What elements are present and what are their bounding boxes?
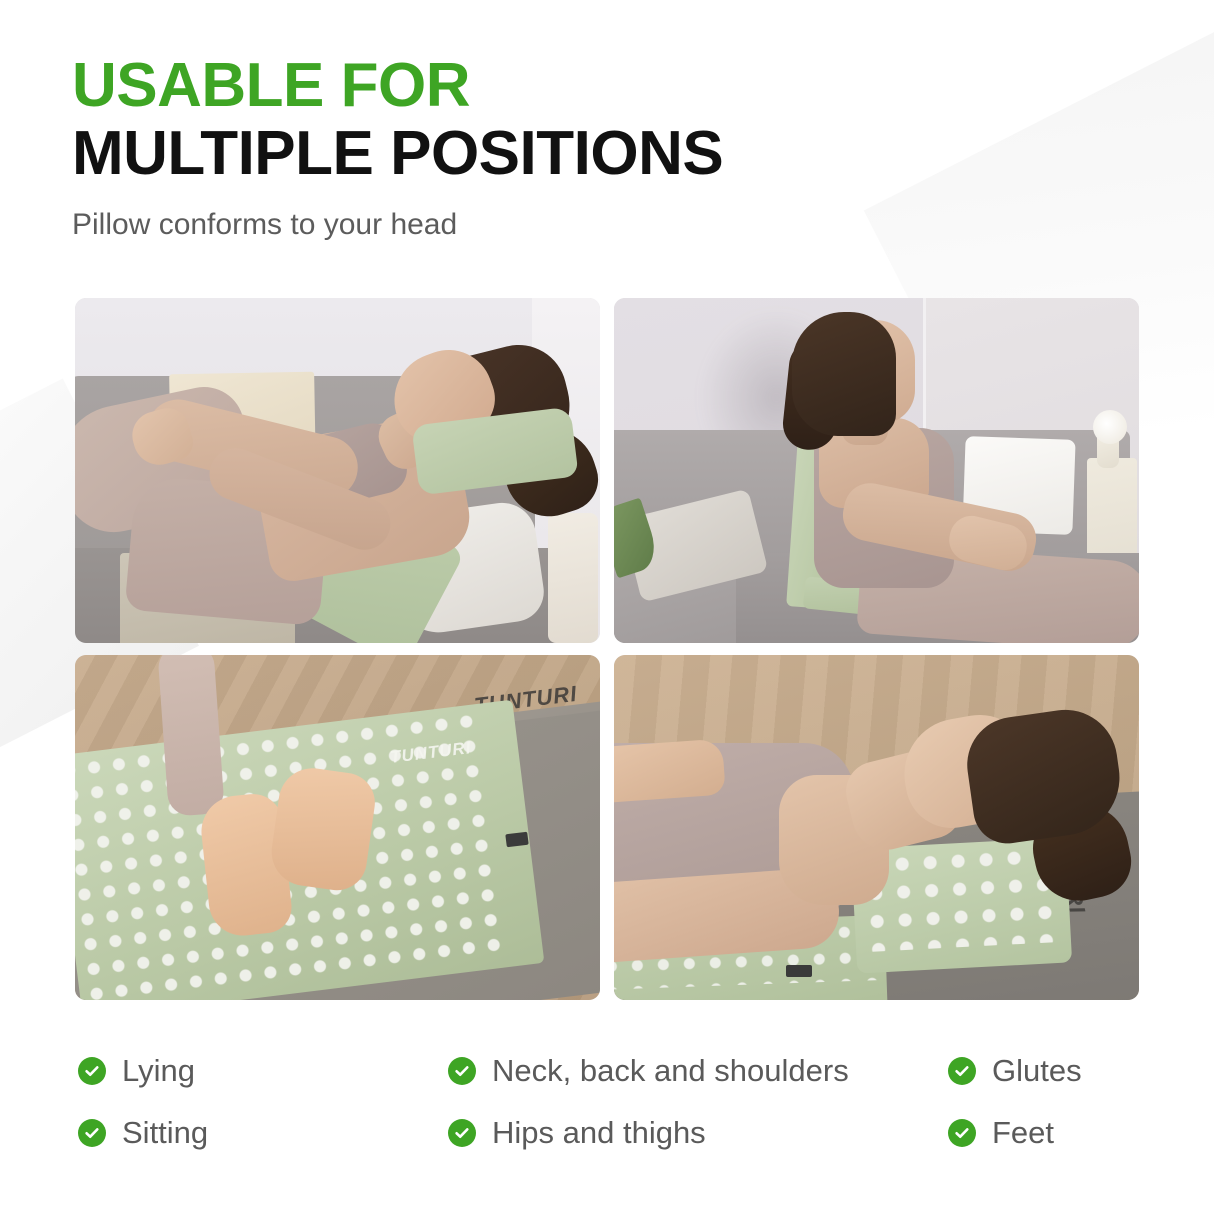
checklist-item-neck-back-shoulders: Neck, back and shoulders xyxy=(448,1048,948,1094)
mat-label-tag xyxy=(786,965,812,977)
photo-feet-on-mat: TUNTURI TUNTURI xyxy=(75,655,600,1000)
check-circle-icon xyxy=(448,1119,476,1147)
checklist-label: Neck, back and shoulders xyxy=(492,1054,849,1088)
check-circle-icon xyxy=(448,1057,476,1085)
checklist-item-glutes: Glutes xyxy=(948,1048,1148,1094)
mat-label-tag xyxy=(505,832,528,848)
photo-lying-on-mat: TUNTURI xyxy=(614,655,1139,1000)
orchid-flower xyxy=(1093,410,1127,444)
model-left-leg xyxy=(157,655,225,817)
check-circle-icon xyxy=(948,1119,976,1147)
checklist-item-feet: Feet xyxy=(948,1110,1148,1156)
checklist-label: Feet xyxy=(992,1116,1054,1150)
page-title-accent: USABLE FOR xyxy=(72,52,1142,120)
model-hair xyxy=(792,312,896,436)
page-title-main: MULTIPLE POSITIONS xyxy=(72,120,1142,188)
header: USABLE FOR MULTIPLE POSITIONS Pillow con… xyxy=(72,52,1142,244)
page-subtitle: Pillow conforms to your head xyxy=(72,206,1142,244)
checklist-label: Sitting xyxy=(122,1116,208,1150)
checklist-label: Lying xyxy=(122,1054,195,1088)
photo-sitting-on-couch xyxy=(614,298,1139,643)
model-midriff xyxy=(614,739,726,804)
model-right-foot xyxy=(267,764,378,894)
checklist-item-sitting: Sitting xyxy=(78,1110,448,1156)
checklist-item-hips-and-thighs: Hips and thighs xyxy=(448,1110,948,1156)
benefits-checklist: Lying Neck, back and shoulders Glutes xyxy=(78,1048,1148,1156)
photo-grid: TUNTURI TUNTURI TUNTURI xyxy=(75,298,1139,1000)
check-circle-icon xyxy=(78,1119,106,1147)
photo-lying-on-couch xyxy=(75,298,600,643)
checklist-label: Hips and thighs xyxy=(492,1116,706,1150)
side-table xyxy=(548,513,598,643)
checklist-label: Glutes xyxy=(992,1054,1082,1088)
infographic-page: USABLE FOR MULTIPLE POSITIONS Pillow con… xyxy=(0,0,1214,1214)
checklist-item-lying: Lying xyxy=(78,1048,448,1094)
check-circle-icon xyxy=(78,1057,106,1085)
check-circle-icon xyxy=(948,1057,976,1085)
model-right-leg xyxy=(245,655,311,787)
